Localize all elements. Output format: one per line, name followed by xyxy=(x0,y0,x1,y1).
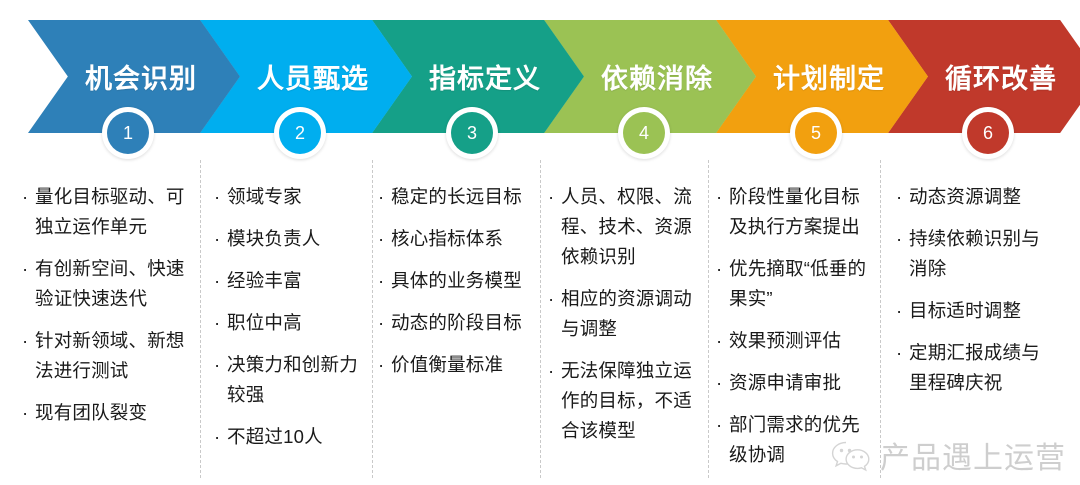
bullet-text: 相应的资源调动与调整 xyxy=(561,284,698,344)
step-detail-column-6: ·动态资源调整·持续依赖识别与消除·目标适时调整·定期汇报成绩与里程碑庆祝 xyxy=(896,160,1056,485)
list-item: ·经验丰富 xyxy=(214,266,364,296)
list-item: ·资源申请审批 xyxy=(716,368,871,398)
list-item: ·价值衡量标准 xyxy=(378,350,533,380)
bullet-list-1: ·量化目标驱动、可独立运作单元·有创新空间、快速验证快速迭代·针对新领域、新想法… xyxy=(22,182,197,440)
step-number-badge-4[interactable]: 4 xyxy=(618,107,670,159)
bullet-dot-icon: · xyxy=(214,308,225,338)
bullet-text: 针对新领域、新想法进行测试 xyxy=(35,326,197,386)
bullet-dot-icon: · xyxy=(22,254,33,284)
detail-columns-band: ·量化目标驱动、可独立运作单元·有创新空间、快速验证快速迭代·针对新领域、新想法… xyxy=(0,160,1080,485)
step-number-badge-2[interactable]: 2 xyxy=(274,107,326,159)
step-detail-column-2: ·领域专家·模块负责人·经验丰富·职位中高·决策力和创新力较强·不超过10人 xyxy=(214,160,364,485)
step-number-1: 1 xyxy=(107,112,149,154)
bullet-dot-icon: · xyxy=(378,224,389,254)
list-item: ·部门需求的优先级协调 xyxy=(716,410,871,470)
list-item: ·效果预测评估 xyxy=(716,326,871,356)
step-detail-column-3: ·稳定的长远目标·核心指标体系·具体的业务模型·动态的阶段目标·价值衡量标准 xyxy=(378,160,533,485)
bullet-text: 优先摘取“低垂的果实” xyxy=(729,254,871,314)
bullet-dot-icon: · xyxy=(214,182,225,212)
bullet-dot-icon: · xyxy=(378,182,389,212)
bullet-text: 价值衡量标准 xyxy=(391,350,533,380)
bullet-dot-icon: · xyxy=(716,254,727,284)
list-item: ·不超过10人 xyxy=(214,422,364,452)
process-flow-infographic: 机会识别1人员甄选2指标定义3依赖消除4计划制定5循环改善6 ·量化目标驱动、可… xyxy=(0,0,1080,485)
bullet-text: 定期汇报成绩与里程碑庆祝 xyxy=(909,338,1056,398)
list-item: ·职位中高 xyxy=(214,308,364,338)
bullet-text: 无法保障独立运作的目标，不适合该模型 xyxy=(561,356,698,446)
bullet-text: 职位中高 xyxy=(227,308,364,338)
bullet-text: 目标适时调整 xyxy=(909,296,1056,326)
list-item: ·目标适时调整 xyxy=(896,296,1056,326)
bullet-text: 部门需求的优先级协调 xyxy=(729,410,871,470)
bullet-text: 决策力和创新力较强 xyxy=(227,350,364,410)
bullet-dot-icon: · xyxy=(548,284,559,314)
bullet-text: 现有团队裂变 xyxy=(35,398,197,428)
list-item: ·核心指标体系 xyxy=(378,224,533,254)
list-item: ·有创新空间、快速验证快速迭代 xyxy=(22,254,197,314)
bullet-text: 稳定的长远目标 xyxy=(391,182,533,212)
bullet-text: 资源申请审批 xyxy=(729,368,871,398)
list-item: ·优先摘取“低垂的果实” xyxy=(716,254,871,314)
bullet-dot-icon: · xyxy=(378,350,389,380)
bullet-text: 核心指标体系 xyxy=(391,224,533,254)
list-item: ·无法保障独立运作的目标，不适合该模型 xyxy=(548,356,698,446)
bullet-dot-icon: · xyxy=(214,422,225,452)
bullet-dot-icon: · xyxy=(716,326,727,356)
bullet-list-2: ·领域专家·模块负责人·经验丰富·职位中高·决策力和创新力较强·不超过10人 xyxy=(214,182,364,464)
column-divider-5 xyxy=(880,160,881,478)
list-item: ·人员、权限、流程、技术、资源依赖识别 xyxy=(548,182,698,272)
column-divider-4 xyxy=(708,160,709,478)
list-item: ·阶段性量化目标及执行方案提出 xyxy=(716,182,871,242)
bullet-dot-icon: · xyxy=(548,182,559,212)
column-divider-2 xyxy=(372,160,373,478)
list-item: ·稳定的长远目标 xyxy=(378,182,533,212)
list-item: ·针对新领域、新想法进行测试 xyxy=(22,326,197,386)
bullet-dot-icon: · xyxy=(716,368,727,398)
step-number-badge-5[interactable]: 5 xyxy=(790,107,842,159)
column-divider-3 xyxy=(540,160,541,478)
step-number-badge-1[interactable]: 1 xyxy=(102,107,154,159)
bullet-dot-icon: · xyxy=(896,182,907,212)
step-number-3: 3 xyxy=(451,112,493,154)
bullet-list-4: ·人员、权限、流程、技术、资源依赖识别·相应的资源调动与调整·无法保障独立运作的… xyxy=(548,182,698,458)
bullet-dot-icon: · xyxy=(896,224,907,254)
bullet-dot-icon: · xyxy=(716,182,727,212)
bullet-dot-icon: · xyxy=(22,398,33,428)
bullet-text: 有创新空间、快速验证快速迭代 xyxy=(35,254,197,314)
bullet-text: 阶段性量化目标及执行方案提出 xyxy=(729,182,871,242)
list-item: ·领域专家 xyxy=(214,182,364,212)
list-item: ·动态的阶段目标 xyxy=(378,308,533,338)
chevron-header-band: 机会识别1人员甄选2指标定义3依赖消除4计划制定5循环改善6 xyxy=(0,0,1080,160)
bullet-dot-icon: · xyxy=(378,308,389,338)
bullet-text: 量化目标驱动、可独立运作单元 xyxy=(35,182,197,242)
bullet-dot-icon: · xyxy=(548,356,559,386)
bullet-text: 模块负责人 xyxy=(227,224,364,254)
step-number-6: 6 xyxy=(967,112,1009,154)
step-detail-column-5: ·阶段性量化目标及执行方案提出·优先摘取“低垂的果实”·效果预测评估·资源申请审… xyxy=(716,160,871,485)
bullet-text: 人员、权限、流程、技术、资源依赖识别 xyxy=(561,182,698,272)
list-item: ·动态资源调整 xyxy=(896,182,1056,212)
bullet-list-5: ·阶段性量化目标及执行方案提出·优先摘取“低垂的果实”·效果预测评估·资源申请审… xyxy=(716,182,871,482)
bullet-text: 经验丰富 xyxy=(227,266,364,296)
list-item: ·定期汇报成绩与里程碑庆祝 xyxy=(896,338,1056,398)
step-number-badge-6[interactable]: 6 xyxy=(962,107,1014,159)
bullet-dot-icon: · xyxy=(896,296,907,326)
bullet-text: 效果预测评估 xyxy=(729,326,871,356)
list-item: ·决策力和创新力较强 xyxy=(214,350,364,410)
bullet-dot-icon: · xyxy=(214,266,225,296)
bullet-dot-icon: · xyxy=(22,326,33,356)
list-item: ·相应的资源调动与调整 xyxy=(548,284,698,344)
list-item: ·现有团队裂变 xyxy=(22,398,197,428)
bullet-text: 不超过10人 xyxy=(227,422,364,452)
list-item: ·具体的业务模型 xyxy=(378,266,533,296)
step-number-5: 5 xyxy=(795,112,837,154)
bullet-list-6: ·动态资源调整·持续依赖识别与消除·目标适时调整·定期汇报成绩与里程碑庆祝 xyxy=(896,182,1056,410)
bullet-dot-icon: · xyxy=(22,182,33,212)
bullet-dot-icon: · xyxy=(896,338,907,368)
bullet-text: 领域专家 xyxy=(227,182,364,212)
step-number-badge-3[interactable]: 3 xyxy=(446,107,498,159)
bullet-dot-icon: · xyxy=(378,266,389,296)
bullet-text: 动态资源调整 xyxy=(909,182,1056,212)
list-item: ·量化目标驱动、可独立运作单元 xyxy=(22,182,197,242)
bullet-dot-icon: · xyxy=(214,224,225,254)
bullet-list-3: ·稳定的长远目标·核心指标体系·具体的业务模型·动态的阶段目标·价值衡量标准 xyxy=(378,182,533,392)
column-divider-1 xyxy=(200,160,201,478)
step-detail-column-4: ·人员、权限、流程、技术、资源依赖识别·相应的资源调动与调整·无法保障独立运作的… xyxy=(548,160,698,485)
bullet-dot-icon: · xyxy=(716,410,727,440)
bullet-dot-icon: · xyxy=(214,350,225,380)
step-number-2: 2 xyxy=(279,112,321,154)
bullet-text: 动态的阶段目标 xyxy=(391,308,533,338)
list-item: ·持续依赖识别与消除 xyxy=(896,224,1056,284)
bullet-text: 具体的业务模型 xyxy=(391,266,533,296)
step-detail-column-1: ·量化目标驱动、可独立运作单元·有创新空间、快速验证快速迭代·针对新领域、新想法… xyxy=(22,160,197,485)
list-item: ·模块负责人 xyxy=(214,224,364,254)
bullet-text: 持续依赖识别与消除 xyxy=(909,224,1056,284)
step-number-4: 4 xyxy=(623,112,665,154)
